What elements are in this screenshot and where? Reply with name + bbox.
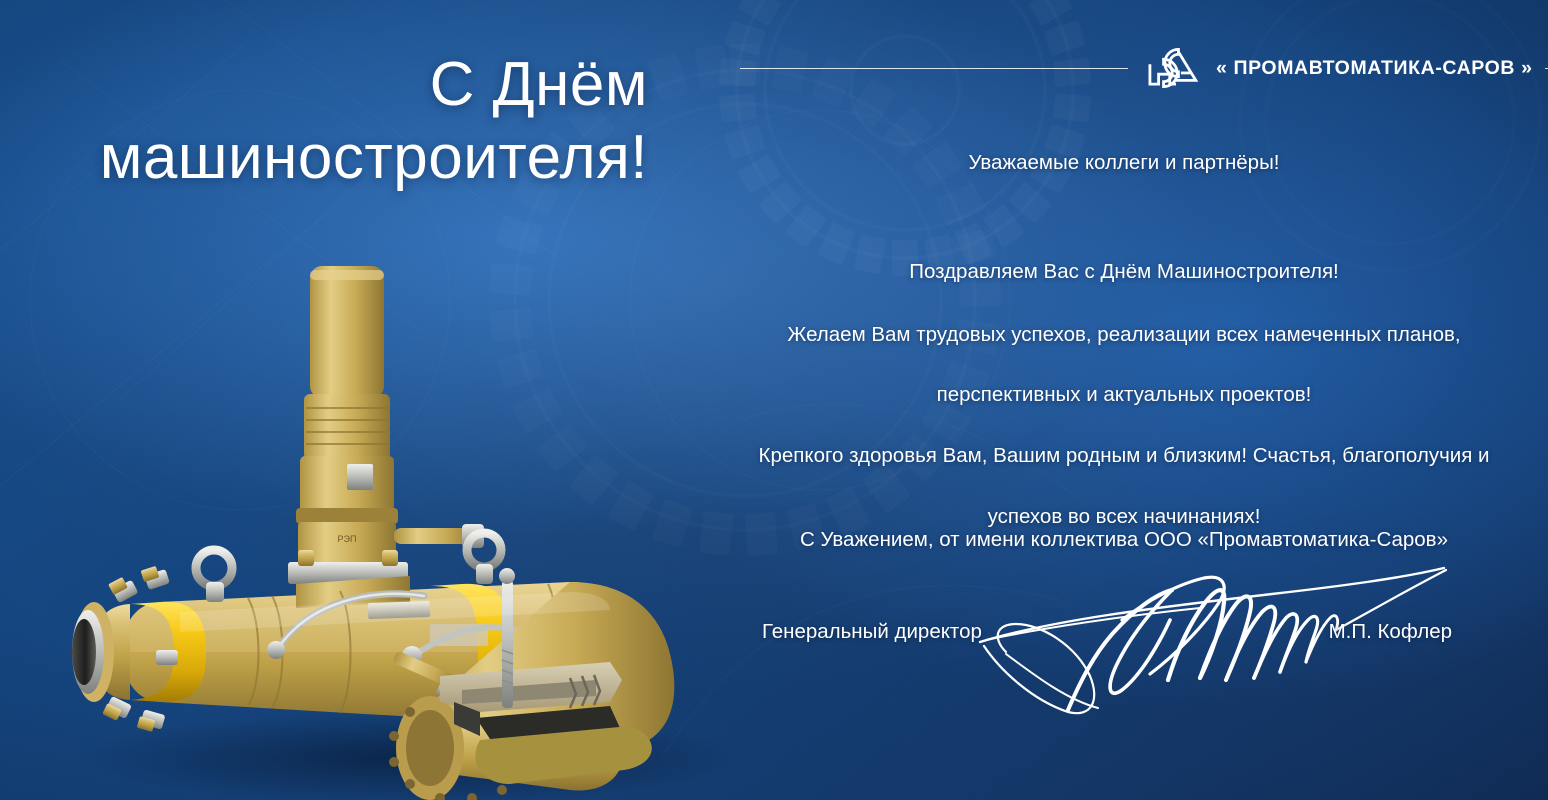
eyebolt <box>196 550 232 586</box>
headline-line-1: С Днём <box>0 48 648 121</box>
salutation: Уважаемые коллеги и партнёры! <box>700 148 1548 179</box>
header-rule-right <box>1545 68 1548 69</box>
greeting-message: Уважаемые коллеги и партнёры! Поздравляе… <box>700 148 1548 533</box>
message-line-1: Поздравляем Вас с Днём Машиностроителя! <box>700 257 1548 288</box>
headline-line-2: машиностроителя! <box>0 121 648 194</box>
cutaway-ball-valve-with-actuator-image: РЭП <box>10 250 800 800</box>
company-name: « ПРОМАВТОМАТИКА-САРОВ » <box>1216 57 1533 80</box>
header-rule-left <box>740 68 1128 69</box>
pas-monogram-icon <box>1140 37 1202 99</box>
signature-block: Генеральный директор М.П. Кофлер <box>700 612 1548 656</box>
greeting-card: « ПРОМАВТОМАТИКА-САРОВ » С Днём машиност… <box>0 0 1548 800</box>
message-line-4: Крепкого здоровья Вам, Вашим родным и бл… <box>700 441 1548 472</box>
regards-line: С Уважением, от имени коллектива ООО «Пр… <box>700 528 1548 552</box>
page-title: С Днём машиностроителя! <box>0 48 690 194</box>
message-line-2: Желаем Вам трудовых успехов, реализации … <box>700 320 1548 351</box>
svg-text:РЭП: РЭП <box>338 534 357 544</box>
message-line-3: перспективных и актуальных проектов! <box>700 380 1548 411</box>
signatory-name: М.П. Кофлер <box>1329 620 1452 644</box>
valve-actuator: РЭП <box>288 266 484 584</box>
